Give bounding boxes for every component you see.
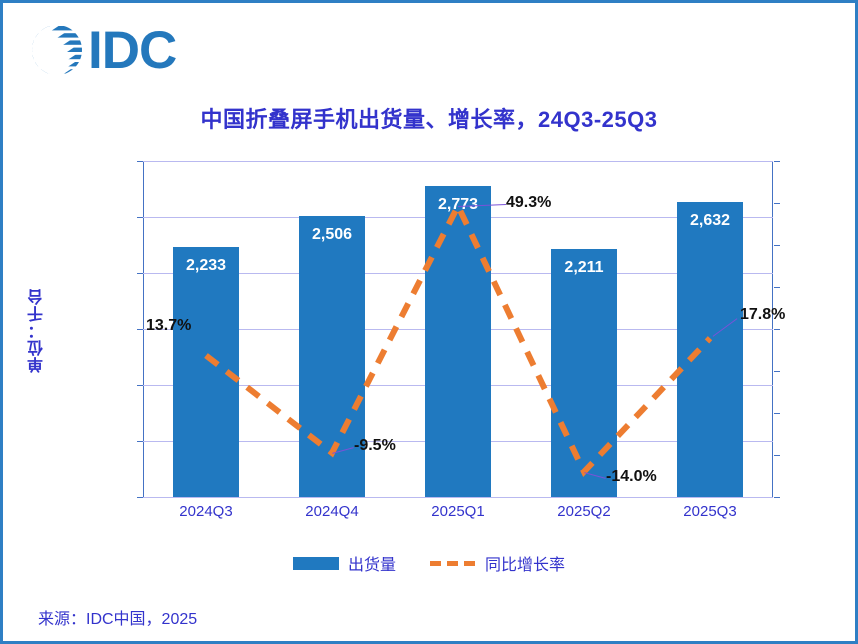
growth-rate-label: -14.0% [606,468,657,486]
x-tick-label-2024Q3: 2024Q3 [179,503,232,520]
y-tick-mark-right [774,329,780,330]
growth-rate-label: 17.8% [740,306,785,324]
y-tick-mark-right [774,413,780,414]
y-tick-mark-left [137,273,143,274]
y-tick-mark-left [137,329,143,330]
bar-value-label: 2,233 [186,257,226,275]
plot-area: 05001,0001,5002,0002,5003,000 -20%-10%0%… [143,161,773,497]
bar-2025Q3[interactable] [677,202,743,497]
legend-label-growth-rate: 同比增长率 [485,551,565,575]
y-tick-mark-left [137,217,143,218]
chart-canvas: IDC 中国折叠屏手机出货量、增长率，24Q3-25Q3 单位：千台 05001… [0,0,858,644]
y-tick-mark-right [774,455,780,456]
legend-dashed-line-icon [430,561,476,566]
bar-value-label: 2,211 [564,259,603,277]
growth-rate-label: -9.5% [354,437,396,455]
y-tick-mark-right [774,371,780,372]
growth-rate-label: 49.3% [506,194,551,212]
y-tick-mark-right [774,245,780,246]
y-tick-mark-left [137,161,143,162]
growth-rate-label: 13.7% [146,317,191,335]
idc-globe-icon [30,23,84,77]
bar-2025Q1[interactable] [425,186,491,497]
y-tick-mark-left [137,385,143,386]
legend-item-growth-rate[interactable]: 同比增长率 [430,551,565,575]
source-note: 来源：IDC中国，2025 [38,605,197,629]
idc-logo: IDC [30,19,200,81]
x-axis-labels: 2024Q32024Q42025Q12025Q22025Q3 [143,503,773,531]
x-tick-label-2025Q3: 2025Q3 [683,503,736,520]
bar-value-label: 2,632 [690,212,730,230]
y-tick-mark-right [774,203,780,204]
legend-bar-swatch-icon [293,557,339,570]
chart-legend: 出货量 同比增长率 [3,551,855,575]
y-tick-mark-left [137,497,143,498]
gridline [143,497,773,498]
bar-2025Q2[interactable] [551,249,617,497]
idc-logo-text: IDC [88,24,176,77]
bar-value-label: 2,506 [312,226,352,244]
y-tick-mark-left [137,441,143,442]
bar-2024Q3[interactable] [173,247,239,497]
chart-title: 中国折叠屏手机出货量、增长率，24Q3-25Q3 [3,102,855,134]
y-axis-title: 单位：千台 [25,271,51,391]
legend-item-shipments[interactable]: 出货量 [293,551,396,575]
x-tick-label-2024Q4: 2024Q4 [305,503,358,520]
bar-2024Q4[interactable] [299,216,365,497]
x-tick-label-2025Q2: 2025Q2 [557,503,610,520]
y-tick-mark-right [774,497,780,498]
legend-label-shipments: 出货量 [348,551,396,575]
y-tick-mark-right [774,161,780,162]
x-tick-label-2025Q1: 2025Q1 [431,503,484,520]
gridline [143,161,773,162]
y-tick-mark-right [774,287,780,288]
